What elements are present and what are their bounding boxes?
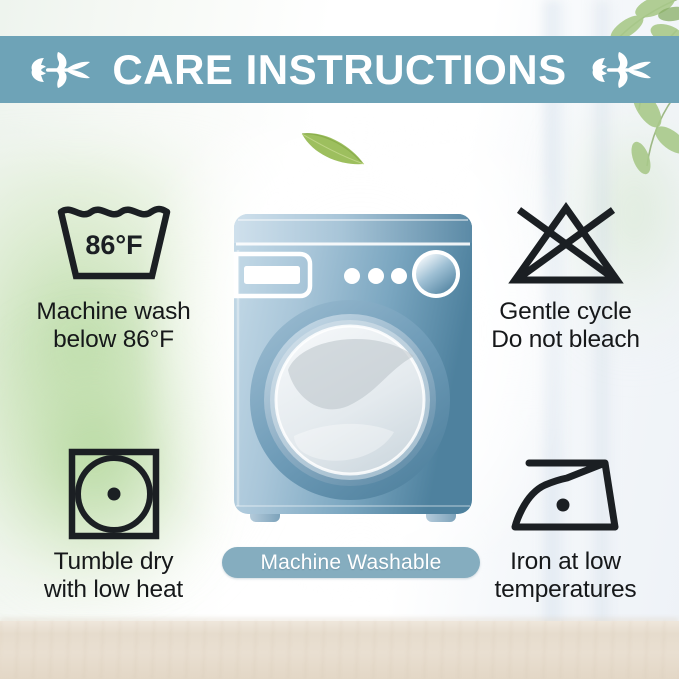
machine-washable-label: Machine Washable — [260, 552, 441, 573]
care-symbol-tumble-dry: Tumble dry with low heat — [6, 450, 221, 605]
caption-line-2: temperatures — [458, 576, 673, 604]
control-button-1 — [344, 268, 360, 284]
fleur-de-lis-icon-right — [589, 48, 651, 92]
caption-line-1: Machine wash — [6, 298, 221, 326]
iron-low-temperature-icon — [458, 450, 673, 538]
care-symbol-gentle-no-bleach: Gentle cycle Do not bleach — [458, 200, 673, 355]
floating-leaf-icon — [296, 120, 370, 172]
washing-machine-illustration — [228, 210, 478, 535]
care-symbol-machine-wash: 86°F Machine wash below 86°F — [6, 200, 221, 355]
caption-line-1: Gentle cycle — [458, 298, 673, 326]
machine-top-panel — [234, 214, 472, 243]
caption-line-2: Do not bleach — [458, 326, 673, 354]
program-knob — [416, 254, 456, 294]
care-instructions-infographic: CARE INSTRUCTIONS 86°F Machine wash — [0, 0, 679, 679]
caption-line-2: with low heat — [6, 576, 221, 604]
care-symbol-iron: Iron at low temperatures — [458, 450, 673, 605]
caption-line-1: Iron at low — [458, 548, 673, 576]
control-button-3 — [391, 268, 407, 284]
care-symbol-caption: Machine wash below 86°F — [6, 298, 221, 355]
machine-washable-badge: Machine Washable — [222, 547, 480, 578]
fleur-de-lis-icon-left — [28, 48, 90, 92]
detergent-drawer-slot — [244, 266, 300, 284]
caption-line-1: Tumble dry — [6, 548, 221, 576]
banner-title: CARE INSTRUCTIONS — [112, 49, 566, 91]
caption-line-2: below 86°F — [6, 326, 221, 354]
care-symbol-caption: Gentle cycle Do not bleach — [458, 298, 673, 355]
wash-temperature-value: 86°F — [85, 230, 142, 260]
wash-tub-icon: 86°F — [6, 200, 221, 288]
tumble-dry-low-icon — [6, 450, 221, 538]
control-button-2 — [368, 268, 384, 284]
table-wood-grain — [0, 621, 679, 679]
care-symbol-caption: Iron at low temperatures — [458, 548, 673, 605]
no-bleach-triangle-icon — [458, 200, 673, 288]
care-symbol-caption: Tumble dry with low heat — [6, 548, 221, 605]
header-banner: CARE INSTRUCTIONS — [0, 36, 679, 103]
